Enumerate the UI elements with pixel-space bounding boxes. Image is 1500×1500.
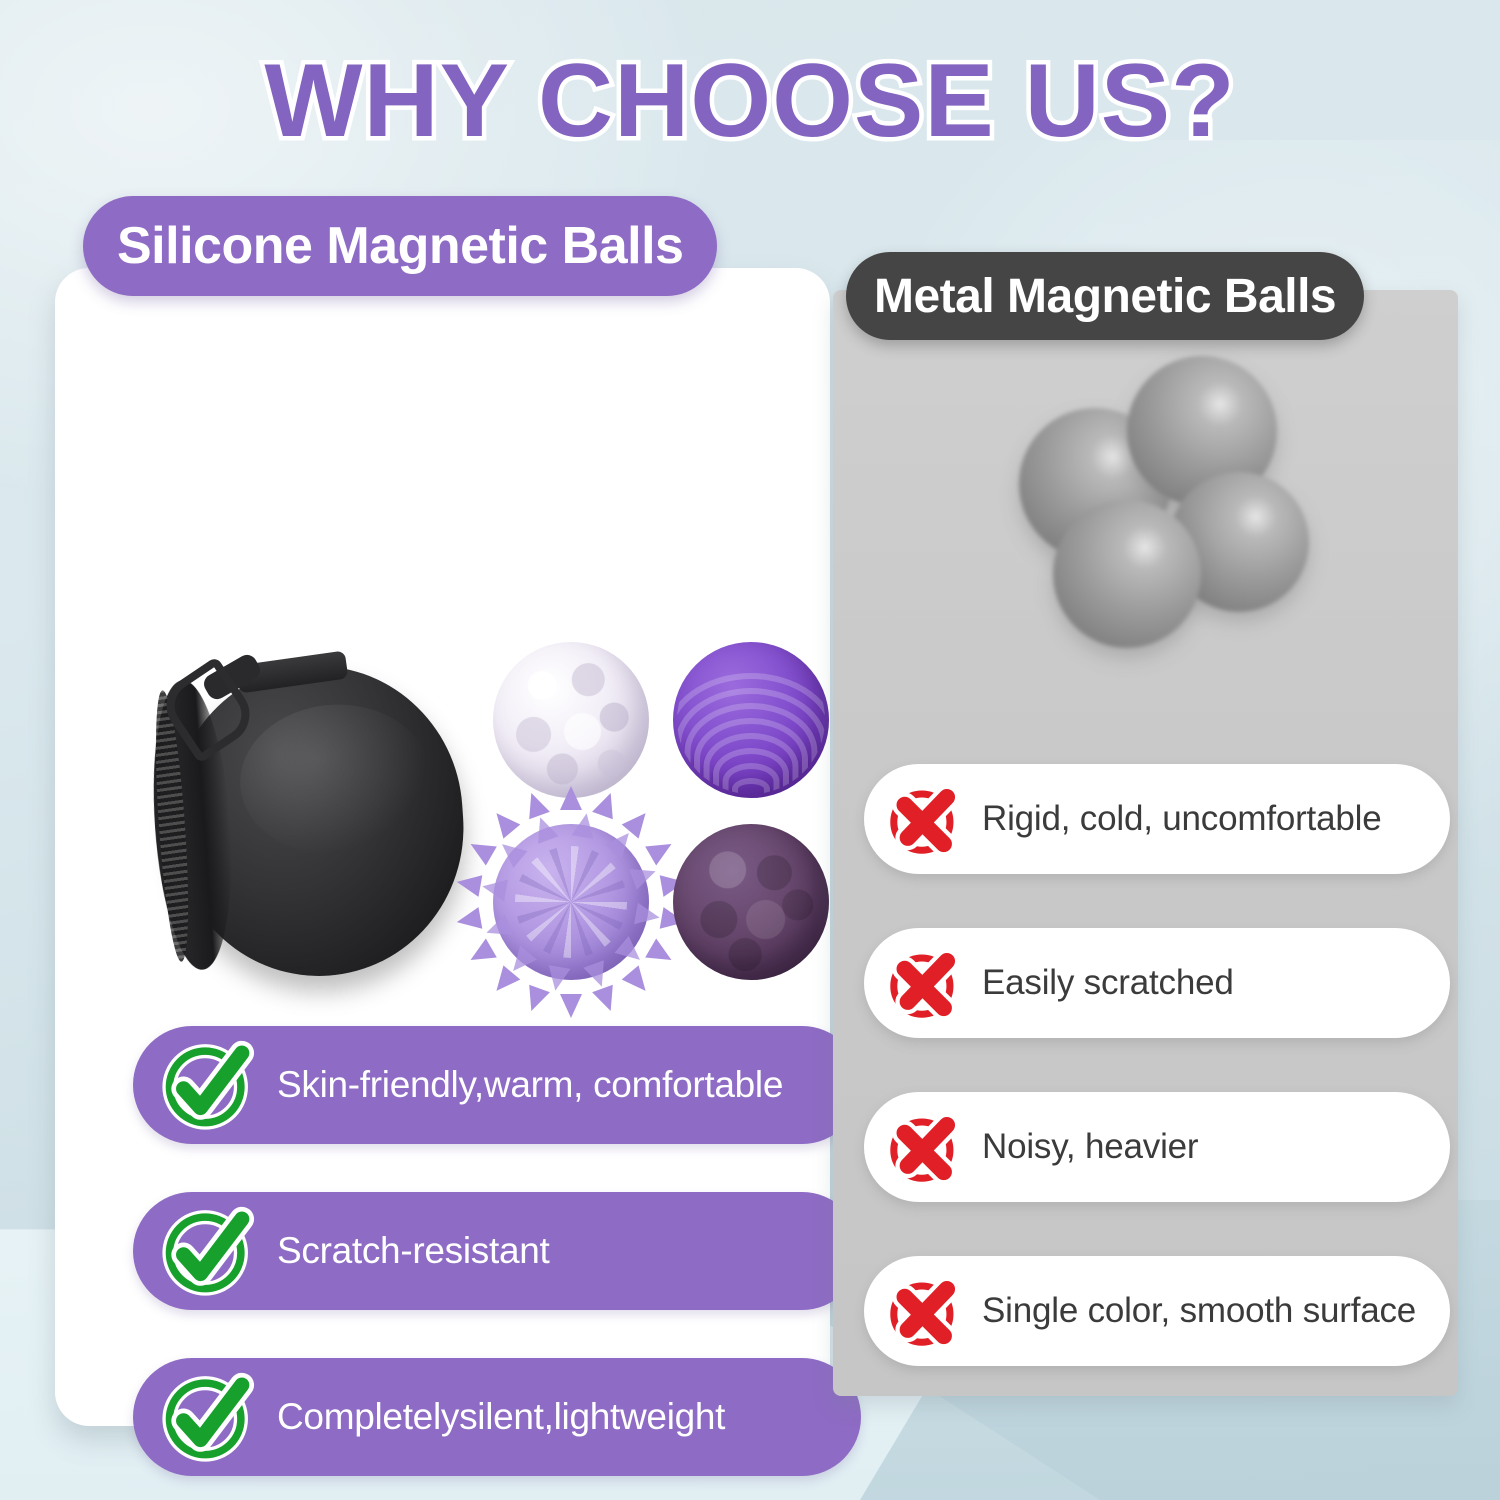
silicone-panel: Skin-friendly,warm, comfortable Scratch-… [55,268,830,1426]
silicone-panel-badge: Silicone Magnetic Balls [83,196,717,296]
metal-feature-list: Rigid, cold, uncomfortable Easily scratc… [864,764,1450,1420]
x-circle-icon [886,780,964,858]
feature-row-skin-friendly: Skin-friendly,warm, comfortable [133,1026,861,1144]
drawback-label: Easily scratched [982,962,1234,1003]
drawback-label: Noisy, heavier [982,1126,1198,1167]
metal-sphere [1053,500,1201,648]
ball-star-pattern [515,846,627,958]
check-circle-icon [161,1204,255,1298]
feature-label: Skin-friendly,warm, comfortable [277,1064,783,1105]
faceted-white-ball [493,642,649,798]
drawback-row-rigid-cold: Rigid, cold, uncomfortable [864,764,1450,874]
feature-row-silent-lightweight: Completelysilent,lightweight [133,1358,861,1476]
faceted-dark-purple-ball [673,824,829,980]
silicone-balls-group [485,638,845,998]
drawback-row-easily-scratched: Easily scratched [864,928,1450,1038]
infographic-canvas: WHY CHOOSE US? [0,0,1500,1500]
metal-product-photo [833,350,1458,680]
page-title: WHY CHOOSE US? [0,42,1500,161]
metal-panel-badge: Metal Magnetic Balls [846,252,1364,340]
silicone-product-photo [125,638,870,1013]
check-circle-icon [161,1038,255,1132]
zipper-case-icon [145,656,465,986]
drawback-row-single-color: Single color, smooth surface [864,1256,1450,1366]
ball-facets [678,829,824,975]
drawback-label: Rigid, cold, uncomfortable [982,798,1381,839]
silicone-feature-list: Skin-friendly,warm, comfortable Scratch-… [133,1026,861,1500]
ridged-purple-ball [673,642,829,798]
feature-row-scratch-resistant: Scratch-resistant [133,1192,861,1310]
drawback-row-noisy-heavier: Noisy, heavier [864,1092,1450,1202]
drawback-label: Single color, smooth surface [982,1290,1416,1331]
feature-label: Scratch-resistant [277,1230,550,1271]
x-circle-icon [886,944,964,1022]
ball-facets [499,648,643,792]
x-circle-icon [886,1272,964,1350]
x-circle-icon [886,1108,964,1186]
ball-ridges [677,646,825,794]
spiky-lavender-ball [493,824,649,980]
check-circle-icon [161,1370,255,1464]
case-highlight [235,698,435,861]
feature-label: Completelysilent,lightweight [277,1396,725,1437]
